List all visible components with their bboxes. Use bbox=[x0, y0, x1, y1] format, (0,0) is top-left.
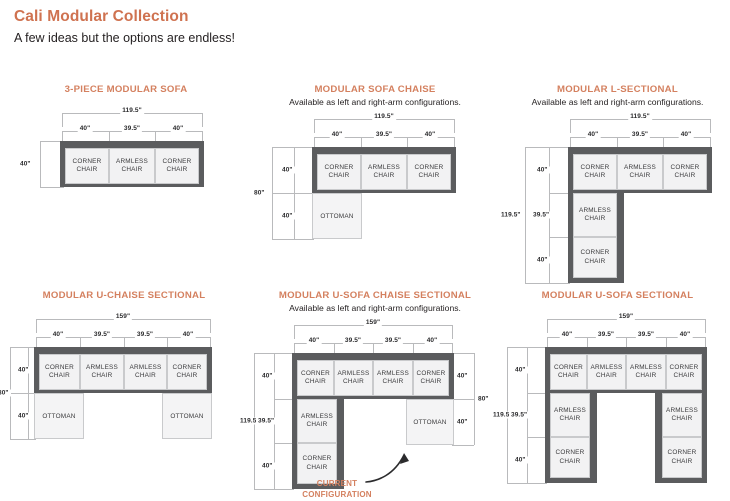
dimension-depth: 40" bbox=[18, 161, 33, 168]
seat-label-line1: ARMLESS bbox=[624, 164, 656, 172]
seat-label-line2: CHAIR bbox=[122, 166, 143, 174]
dimension-line bbox=[28, 347, 29, 439]
diagram-three-piece-modular-sofa: 3-PIECE MODULAR SOFA 119.5" 40" 39.5" 40… bbox=[12, 84, 240, 215]
dimension-tick bbox=[617, 137, 618, 147]
annotation-line1: CURRENT bbox=[282, 479, 392, 490]
dimension-segment: 39.5" bbox=[343, 337, 363, 344]
seat-label-line2: CHAIR bbox=[674, 372, 695, 380]
seat-label-line1: CORNER bbox=[581, 249, 610, 257]
dimension-tick bbox=[452, 343, 453, 353]
seat-corner-chair: CORNER CHAIR bbox=[297, 360, 334, 396]
dimension-overall-depth: 119.5" bbox=[499, 212, 523, 219]
page-header: Cali Modular Collection A few ideas but … bbox=[14, 8, 235, 45]
dimension-segment: 40" bbox=[455, 373, 470, 380]
seat-corner-chair: CORNER CHAIR bbox=[662, 437, 702, 478]
dimension-segment: 40" bbox=[307, 337, 322, 344]
seat-label-line1: CORNER bbox=[415, 164, 444, 172]
seat-label-line1: ARMLESS bbox=[130, 364, 162, 372]
dimension-segment: 40" bbox=[535, 257, 550, 264]
dimension-tick bbox=[454, 137, 455, 147]
seat-label-line1: CORNER bbox=[73, 158, 102, 166]
seat-label-line2: CHAIR bbox=[672, 458, 693, 466]
dimension-segment: 39.5" bbox=[374, 131, 394, 138]
seat-label-line2: CHAIR bbox=[636, 372, 657, 380]
seat-label-line1: CORNER bbox=[303, 455, 332, 463]
ottoman-right: OTTOMAN bbox=[162, 393, 212, 439]
seat-armless-chair: ARMLESS CHAIR bbox=[124, 354, 167, 390]
dimension-segment: 40" bbox=[16, 367, 31, 374]
dimension-overall-width: 119.5" bbox=[628, 113, 652, 120]
seat-label-line2: CHAIR bbox=[305, 378, 326, 386]
dimension-tick bbox=[547, 337, 548, 347]
dimension-overall-width: 119.5" bbox=[372, 113, 396, 120]
seat-label-line1: CORNER bbox=[173, 364, 202, 372]
seat-label-line1: CORNER bbox=[301, 370, 330, 378]
diagram-modular-u-sofa-sectional: MODULAR U-SOFA SECTIONAL 159" 40" 39.5" … bbox=[505, 290, 730, 491]
diagram-title: MODULAR L-SECTIONAL bbox=[505, 84, 730, 95]
diagram-canvas: 119.5" 40" 39.5" 40" 80" 40" 40" CORNER … bbox=[256, 113, 494, 248]
dimension-segment: 40" bbox=[330, 131, 345, 138]
seat-label-line2: CHAIR bbox=[585, 215, 606, 223]
dimension-overall-width: 159" bbox=[364, 319, 382, 326]
seat-label-line2: CHAIR bbox=[307, 464, 328, 472]
dimension-tick bbox=[710, 137, 711, 147]
seat-corner-chair: CORNER CHAIR bbox=[167, 354, 207, 390]
dimension-overall-depth: 80" bbox=[252, 190, 267, 197]
dimension-overall-depth: 80" bbox=[0, 390, 11, 397]
dimension-segment: 39.5" bbox=[256, 418, 276, 425]
seat-label-line1: ARMLESS bbox=[630, 364, 662, 372]
diagram-canvas: 119.5" 40" 39.5" 40" 119.5" 40" 39.5" 40… bbox=[505, 113, 730, 303]
dimension-tick bbox=[527, 393, 547, 394]
seat-corner-chair: CORNER CHAIR bbox=[550, 437, 590, 478]
seat-label-line1: ARMLESS bbox=[338, 370, 370, 378]
seat-label-line1: CORNER bbox=[581, 164, 610, 172]
diagram-modular-l-sectional: MODULAR L-SECTIONAL Available as left an… bbox=[505, 84, 730, 303]
dimension-segment: 40" bbox=[560, 331, 575, 338]
modular-collection-poster: Cali Modular Collection A few ideas but … bbox=[0, 0, 730, 488]
diagram-canvas: 159" 40" 39.5" 39.5" 40" 80" 40" 40" COR… bbox=[8, 313, 240, 448]
ottoman: OTTOMAN bbox=[312, 193, 362, 239]
seat-corner-chair: CORNER CHAIR bbox=[155, 148, 199, 184]
dimension-tick bbox=[413, 343, 414, 353]
seat-corner-chair: CORNER CHAIR bbox=[317, 154, 361, 190]
seat-label-line2: CHAIR bbox=[92, 372, 113, 380]
dimension-right-depth: 80" bbox=[476, 396, 491, 403]
dimension-segment: 39.5" bbox=[122, 125, 142, 132]
dimension-tick bbox=[507, 483, 547, 484]
diagram-subtitle: Available as left and right-arm configur… bbox=[252, 303, 498, 313]
seat-label-line1: ARMLESS bbox=[591, 364, 623, 372]
seat-label-line2: CHAIR bbox=[630, 172, 651, 180]
dimension-tick bbox=[272, 147, 314, 148]
dimension-segment: 40" bbox=[425, 337, 440, 344]
seat-label-line2: CHAIR bbox=[560, 458, 581, 466]
dimension-tick bbox=[452, 353, 474, 354]
dimension-tick bbox=[10, 347, 36, 348]
dimension-tick bbox=[274, 443, 294, 444]
dimension-tick bbox=[549, 237, 570, 238]
seat-label-line1: ARMLESS bbox=[666, 407, 698, 415]
dimension-segment: 40" bbox=[455, 419, 470, 426]
diagram-canvas: 159" 40" 39.5" 39.5" 40" 119.5" 40" 39.5… bbox=[252, 319, 498, 497]
dimension-tick bbox=[705, 337, 706, 347]
dimension-segment: 40" bbox=[16, 413, 31, 420]
seat-corner-chair: CORNER CHAIR bbox=[297, 443, 337, 484]
dimension-tick bbox=[124, 337, 125, 347]
dimension-segment: 40" bbox=[280, 167, 295, 174]
dimension-tick bbox=[272, 193, 314, 194]
dimension-tick bbox=[314, 119, 315, 133]
dimension-overall-width: 159" bbox=[114, 313, 132, 320]
seat-armless-chair: ARMLESS CHAIR bbox=[573, 193, 617, 237]
dimension-tick bbox=[294, 325, 295, 339]
dimension-tick bbox=[109, 131, 110, 141]
seat-label-line2: CHAIR bbox=[585, 172, 606, 180]
dimension-segment: 40" bbox=[535, 167, 550, 174]
seat-label-line2: CHAIR bbox=[383, 378, 404, 386]
seat-label-line1: CORNER bbox=[671, 164, 700, 172]
seat-label-line1: CORNER bbox=[45, 364, 74, 372]
dimension-tick bbox=[155, 131, 156, 141]
ottoman-label: OTTOMAN bbox=[413, 419, 446, 426]
dimension-tick bbox=[210, 319, 211, 333]
page-title: Cali Modular Collection bbox=[14, 8, 235, 26]
dimension-segment: 40" bbox=[513, 367, 528, 374]
seat-label-line2: CHAIR bbox=[672, 415, 693, 423]
dimension-tick bbox=[167, 337, 168, 347]
diagram-canvas: 159" 40" 39.5" 39.5" 40" 119.5" 40" 39.5… bbox=[505, 313, 730, 491]
seat-label-line2: CHAIR bbox=[560, 415, 581, 423]
seat-armless-chair: ARMLESS CHAIR bbox=[617, 154, 663, 190]
dimension-tick bbox=[210, 337, 211, 347]
dimension-tick bbox=[570, 119, 571, 133]
seat-corner-chair: CORNER CHAIR bbox=[413, 360, 449, 396]
dimension-tick bbox=[361, 137, 362, 147]
seat-label-line2: CHAIR bbox=[419, 172, 440, 180]
dimension-segment: 40" bbox=[260, 373, 275, 380]
seat-label-line2: CHAIR bbox=[421, 378, 442, 386]
dimension-segment: 40" bbox=[280, 213, 295, 220]
diagram-subtitle: Available as left and right-arm configur… bbox=[256, 97, 494, 107]
dimension-tick bbox=[36, 319, 37, 333]
ottoman-label: OTTOMAN bbox=[320, 213, 353, 220]
diagram-subtitle: Available as left and right-arm configur… bbox=[505, 97, 730, 107]
dimension-segment: 39.5" bbox=[135, 331, 155, 338]
dimension-tick bbox=[202, 113, 203, 127]
dimension-segment: 39.5" bbox=[92, 331, 112, 338]
seat-armless-chair: ARMLESS CHAIR bbox=[80, 354, 124, 390]
dimension-segment: 40" bbox=[678, 331, 693, 338]
dimension-tick bbox=[294, 343, 295, 353]
seat-label-line2: CHAIR bbox=[343, 378, 364, 386]
dimension-tick bbox=[549, 193, 570, 194]
dimension-line bbox=[40, 141, 41, 187]
seat-corner-chair: CORNER CHAIR bbox=[65, 148, 109, 184]
seat-corner-chair: CORNER CHAIR bbox=[573, 154, 617, 190]
seat-label-line1: CORNER bbox=[668, 449, 697, 457]
dimension-segment: 40" bbox=[679, 131, 694, 138]
dimension-tick bbox=[40, 187, 64, 188]
seat-label-line2: CHAIR bbox=[135, 372, 156, 380]
diagram-modular-u-chaise-sectional: MODULAR U-CHAISE SECTIONAL 159" 40" 39.5… bbox=[8, 290, 240, 448]
seat-label-line1: ARMLESS bbox=[554, 407, 586, 415]
ottoman-label: OTTOMAN bbox=[170, 413, 203, 420]
ottoman: OTTOMAN bbox=[406, 399, 454, 445]
dimension-segment: 39.5" bbox=[596, 331, 616, 338]
seat-corner-chair: CORNER CHAIR bbox=[550, 354, 587, 390]
dimension-tick bbox=[334, 343, 335, 353]
seat-label-line1: CORNER bbox=[556, 449, 585, 457]
dimension-tick bbox=[710, 119, 711, 133]
seat-label-line2: CHAIR bbox=[596, 372, 617, 380]
dimension-tick bbox=[314, 137, 315, 147]
dimension-segment: 39.5" bbox=[630, 131, 650, 138]
dimension-segment: 40" bbox=[78, 125, 93, 132]
dimension-segment: 40" bbox=[423, 131, 438, 138]
dimension-segment: 40" bbox=[181, 331, 196, 338]
dimension-tick bbox=[36, 337, 37, 347]
dimension-segment: 40" bbox=[586, 131, 601, 138]
seat-label-line2: CHAIR bbox=[329, 172, 350, 180]
dimension-tick bbox=[587, 337, 588, 347]
annotation-line2: CONFIGURATION bbox=[282, 490, 392, 501]
seat-armless-chair: ARMLESS CHAIR bbox=[109, 148, 155, 184]
dimension-tick bbox=[62, 131, 63, 141]
dimension-segment: 39.5" bbox=[509, 412, 529, 419]
dimension-tick bbox=[666, 337, 667, 347]
seat-label-line1: ARMLESS bbox=[301, 413, 333, 421]
seat-label-line1: CORNER bbox=[163, 158, 192, 166]
seat-label-line2: CHAIR bbox=[49, 372, 70, 380]
seat-label-line1: ARMLESS bbox=[377, 370, 409, 378]
ottoman-left: OTTOMAN bbox=[34, 393, 84, 439]
dimension-segment: 40" bbox=[513, 457, 528, 464]
ottoman-label: OTTOMAN bbox=[42, 413, 75, 420]
dimension-tick bbox=[454, 119, 455, 133]
seat-corner-chair: CORNER CHAIR bbox=[407, 154, 451, 190]
diagram-title: MODULAR U-CHAISE SECTIONAL bbox=[8, 290, 240, 301]
dimension-overall-width: 159" bbox=[617, 313, 635, 320]
dimension-tick bbox=[80, 337, 81, 347]
seat-label-line1: CORNER bbox=[554, 364, 583, 372]
dimension-tick bbox=[407, 137, 408, 147]
dimension-tick bbox=[452, 445, 474, 446]
dimension-segment: 39.5" bbox=[531, 212, 551, 219]
dimension-line bbox=[474, 353, 475, 445]
seat-label-line2: CHAIR bbox=[177, 372, 198, 380]
dimension-tick bbox=[547, 319, 548, 333]
seat-label-line1: CORNER bbox=[325, 164, 354, 172]
diagram-title: MODULAR SOFA CHAISE bbox=[256, 84, 494, 95]
page-subtitle: A few ideas but the options are endless! bbox=[14, 31, 235, 45]
seat-armless-chair: ARMLESS CHAIR bbox=[626, 354, 666, 390]
dimension-tick bbox=[373, 343, 374, 353]
diagram-modular-sofa-chaise: MODULAR SOFA CHAISE Available as left an… bbox=[256, 84, 494, 248]
seat-armless-chair: ARMLESS CHAIR bbox=[587, 354, 626, 390]
seat-armless-chair: ARMLESS CHAIR bbox=[550, 393, 590, 437]
dimension-segment: 39.5" bbox=[636, 331, 656, 338]
seat-label-line1: ARMLESS bbox=[116, 158, 148, 166]
seat-corner-chair: CORNER CHAIR bbox=[39, 354, 80, 390]
seat-armless-chair: ARMLESS CHAIR bbox=[662, 393, 702, 437]
dimension-tick bbox=[452, 325, 453, 339]
dimension-overall-width: 119.5" bbox=[120, 107, 144, 114]
seat-corner-chair: CORNER CHAIR bbox=[666, 354, 702, 390]
seat-label-line2: CHAIR bbox=[558, 372, 579, 380]
diagram-title: MODULAR U-SOFA CHAISE SECTIONAL bbox=[252, 290, 498, 301]
dimension-line bbox=[525, 147, 526, 283]
dimension-tick bbox=[525, 147, 570, 148]
seat-armless-chair: ARMLESS CHAIR bbox=[297, 399, 337, 443]
seat-label-line2: CHAIR bbox=[77, 166, 98, 174]
seat-label-line1: CORNER bbox=[417, 370, 446, 378]
seat-armless-chair: ARMLESS CHAIR bbox=[334, 360, 373, 396]
dimension-tick bbox=[452, 399, 474, 400]
seat-armless-chair: ARMLESS CHAIR bbox=[373, 360, 413, 396]
seat-label-line2: CHAIR bbox=[675, 172, 696, 180]
seat-label-line1: CORNER bbox=[670, 364, 699, 372]
dimension-tick bbox=[663, 137, 664, 147]
dimension-tick bbox=[570, 137, 571, 147]
current-configuration-label: CURRENT CONFIGURATION bbox=[282, 479, 392, 501]
seat-label-line2: CHAIR bbox=[307, 421, 328, 429]
dimension-segment: 40" bbox=[51, 331, 66, 338]
diagram-title: 3-PIECE MODULAR SOFA bbox=[12, 84, 240, 95]
diagram-canvas: 119.5" 40" 39.5" 40" 40" CORNER CHAIR AR… bbox=[12, 105, 240, 215]
dimension-tick bbox=[62, 113, 63, 127]
dimension-segment: 40" bbox=[260, 463, 275, 470]
seat-label-line2: CHAIR bbox=[167, 166, 188, 174]
seat-label-line1: ARMLESS bbox=[579, 207, 611, 215]
dimension-line bbox=[294, 147, 295, 239]
dimension-tick bbox=[525, 283, 570, 284]
seat-corner-chair: CORNER CHAIR bbox=[663, 154, 707, 190]
seat-label-line1: ARMLESS bbox=[86, 364, 118, 372]
dimension-tick bbox=[10, 439, 36, 440]
dimension-tick bbox=[202, 131, 203, 141]
diagram-title: MODULAR U-SOFA SECTIONAL bbox=[505, 290, 730, 301]
dimension-tick bbox=[272, 239, 314, 240]
seat-armless-chair: ARMLESS CHAIR bbox=[361, 154, 407, 190]
dimension-tick bbox=[10, 393, 36, 394]
seat-label-line2: CHAIR bbox=[374, 172, 395, 180]
dimension-segment: 40" bbox=[171, 125, 186, 132]
dimension-tick bbox=[705, 319, 706, 333]
seat-label-line1: ARMLESS bbox=[368, 164, 400, 172]
dimension-segment: 39.5" bbox=[383, 337, 403, 344]
dimension-tick bbox=[626, 337, 627, 347]
seat-label-line2: CHAIR bbox=[585, 258, 606, 266]
diagram-modular-u-sofa-chaise-sectional: MODULAR U-SOFA CHAISE SECTIONAL Availabl… bbox=[252, 290, 498, 497]
dimension-tick bbox=[527, 437, 547, 438]
seat-corner-chair: CORNER CHAIR bbox=[573, 237, 617, 278]
dimension-tick bbox=[274, 399, 294, 400]
